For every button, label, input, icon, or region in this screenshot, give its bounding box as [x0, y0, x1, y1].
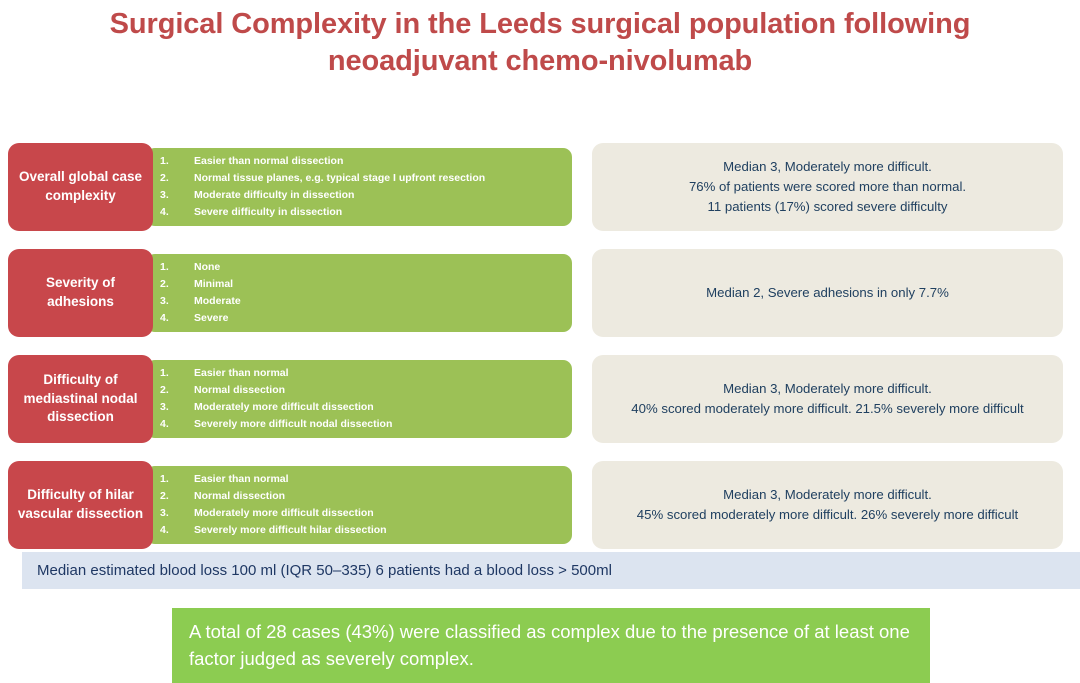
scale-item-label: Moderately more difficult dissection [194, 399, 374, 416]
scale-item-number: 3. [160, 505, 194, 522]
page-title: Surgical Complexity in the Leeds surgica… [0, 6, 1080, 80]
scale-item-number: 2. [160, 170, 194, 187]
result-text: Median 3, Moderately more difficult.76% … [689, 157, 966, 217]
scale-list: 1. Easier than normal 2. Normal dissecti… [146, 466, 572, 544]
summary-callout: A total of 28 cases (43%) were classifie… [172, 608, 930, 683]
result-text: Median 3, Moderately more difficult.40% … [631, 379, 1023, 419]
scale-item-number: 1. [160, 259, 194, 276]
scale-item-label: Severely more difficult nodal dissection [194, 416, 392, 433]
scale-item: 2. Normal dissection [160, 382, 562, 399]
scale-item-number: 2. [160, 276, 194, 293]
complexity-matrix: Overall global case complexity 1. Easier… [0, 143, 1080, 549]
scale-item: 3. Moderate [160, 293, 562, 310]
scale-item: 3. Moderate difficulty in dissection [160, 187, 562, 204]
scale-item: 2. Normal dissection [160, 488, 562, 505]
scale-item-number: 3. [160, 293, 194, 310]
scale-item-number: 4. [160, 204, 194, 221]
scale-item-number: 3. [160, 399, 194, 416]
scale-item-label: Severe difficulty in dissection [194, 204, 342, 221]
complexity-row: Difficulty of hilar vascular dissection … [0, 461, 1080, 549]
scale-item-number: 4. [160, 416, 194, 433]
scale-list: 1. None 2. Minimal 3. Moderate 4. Severe [146, 254, 572, 332]
scale-item: 4. Severe [160, 310, 562, 327]
scale-item-label: Minimal [194, 276, 233, 293]
scale-item-number: 1. [160, 471, 194, 488]
scale-item: 3. Moderately more difficult dissection [160, 399, 562, 416]
result-box: Median 3, Moderately more difficult.76% … [592, 143, 1063, 231]
complexity-row: Severity of adhesions 1. None 2. Minimal… [0, 249, 1080, 337]
scale-item-label: Easier than normal dissection [194, 153, 343, 170]
blood-loss-text: Median estimated blood loss 100 ml (IQR … [37, 562, 612, 580]
scale-item: 4. Severely more difficult hilar dissect… [160, 522, 562, 539]
scale-item: 1. Easier than normal [160, 365, 562, 382]
scale-item-number: 2. [160, 382, 194, 399]
scale-item: 1. None [160, 259, 562, 276]
scale-item: 2. Minimal [160, 276, 562, 293]
result-text: Median 3, Moderately more difficult.45% … [637, 485, 1018, 525]
scale-item: 2. Normal tissue planes, e.g. typical st… [160, 170, 562, 187]
scale-list: 1. Easier than normal dissection 2. Norm… [146, 148, 572, 226]
scale-item-label: Normal dissection [194, 488, 285, 505]
scale-item-number: 4. [160, 522, 194, 539]
scale-item-label: Normal dissection [194, 382, 285, 399]
scale-item-label: Moderate [194, 293, 241, 310]
scale-item: 4. Severely more difficult nodal dissect… [160, 416, 562, 433]
scale-item-label: Severe [194, 310, 228, 327]
scale-item-number: 2. [160, 488, 194, 505]
complexity-row: Overall global case complexity 1. Easier… [0, 143, 1080, 231]
scale-item: 3. Moderately more difficult dissection [160, 505, 562, 522]
category-label: Severity of adhesions [8, 249, 153, 337]
scale-item-label: Severely more difficult hilar dissection [194, 522, 387, 539]
scale-list: 1. Easier than normal 2. Normal dissecti… [146, 360, 572, 438]
result-text: Median 2, Severe adhesions in only 7.7% [706, 283, 949, 303]
summary-text: A total of 28 cases (43%) were classifie… [189, 618, 916, 672]
scale-item-label: Normal tissue planes, e.g. typical stage… [194, 170, 485, 187]
complexity-row: Difficulty of mediastinal nodal dissecti… [0, 355, 1080, 443]
category-label: Difficulty of hilar vascular dissection [8, 461, 153, 549]
scale-item-label: Moderately more difficult dissection [194, 505, 374, 522]
scale-item-number: 4. [160, 310, 194, 327]
result-box: Median 2, Severe adhesions in only 7.7% [592, 249, 1063, 337]
result-box: Median 3, Moderately more difficult.40% … [592, 355, 1063, 443]
blood-loss-banner: Median estimated blood loss 100 ml (IQR … [22, 552, 1080, 589]
scale-item-number: 1. [160, 153, 194, 170]
scale-item-label: Easier than normal [194, 471, 289, 488]
scale-item: 4. Severe difficulty in dissection [160, 204, 562, 221]
category-label: Overall global case complexity [8, 143, 153, 231]
scale-item-label: Easier than normal [194, 365, 289, 382]
scale-item: 1. Easier than normal dissection [160, 153, 562, 170]
scale-item-number: 3. [160, 187, 194, 204]
result-box: Median 3, Moderately more difficult.45% … [592, 461, 1063, 549]
scale-item-number: 1. [160, 365, 194, 382]
scale-item-label: Moderate difficulty in dissection [194, 187, 354, 204]
scale-item-label: None [194, 259, 220, 276]
category-label: Difficulty of mediastinal nodal dissecti… [8, 355, 153, 443]
scale-item: 1. Easier than normal [160, 471, 562, 488]
